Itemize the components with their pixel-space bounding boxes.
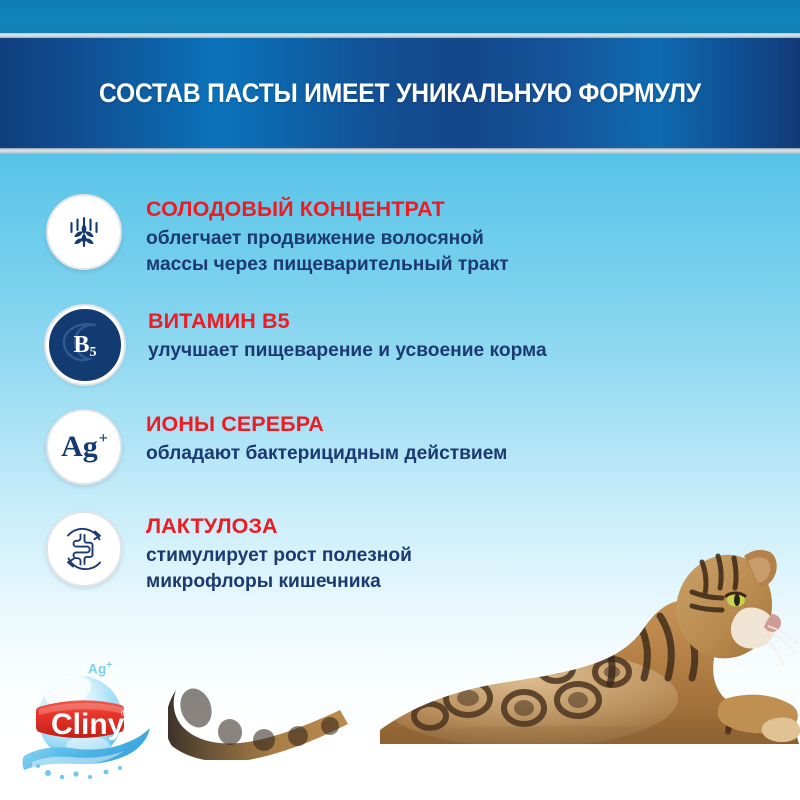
silver-ions-label: Ag+ <box>61 432 107 462</box>
silver-ions-icon: Ag+ <box>46 409 122 485</box>
feature-title-malt: СОЛОДОВЫЙ КОНЦЕНТРАТ <box>146 196 509 223</box>
intestine-icon <box>46 511 122 587</box>
vitamin-b5-label: B5 <box>73 333 96 357</box>
feature-text-malt: СОЛОДОВЫЙ КОНЦЕНТРАТ облегчает продвижен… <box>146 194 509 278</box>
cat-photo <box>168 548 800 800</box>
page-title: СОСТАВ ПАСТЫ ИМЕЕТ УНИКАЛЬНУЮ ФОРМУЛУ <box>28 33 772 154</box>
logo-ag-label: Ag+ <box>88 660 112 677</box>
cliny-logo: Cliny ® <box>18 658 168 786</box>
feature-title-vitamin-b5: ВИТАМИН B5 <box>148 308 547 335</box>
feature-title-lactulose: ЛАКТУЛОЗА <box>146 513 412 540</box>
vitamin-b5-icon: B5 <box>46 306 124 384</box>
feature-item-vitamin-b5: B5 ВИТАМИН B5 улучшает пищеварение и усв… <box>46 306 547 384</box>
feature-desc-silver-ions: обладают бактерицидным действием <box>146 441 507 467</box>
feature-item-malt: СОЛОДОВЫЙ КОНЦЕНТРАТ облегчает продвижен… <box>46 194 509 278</box>
trademark-symbol: ® <box>121 708 128 718</box>
top-color-strip <box>0 0 800 33</box>
wheat-icon <box>46 194 122 270</box>
cliny-wordmark: Cliny <box>51 708 125 741</box>
feature-desc-vitamin-b5: улучшает пищеварение и усвоение корма <box>148 338 547 364</box>
feature-text-silver-ions: ИОНЫ СЕРЕБРА обладают бактерицидным дейс… <box>146 409 507 467</box>
feature-title-silver-ions: ИОНЫ СЕРЕБРА <box>146 411 507 438</box>
promo-page: СОСТАВ ПАСТЫ ИМЕЕТ УНИКАЛЬНУЮ ФОРМУЛУ <box>0 0 800 800</box>
feature-desc-malt: облегчает продвижение волосяной массы че… <box>146 226 509 278</box>
feature-text-vitamin-b5: ВИТАМИН B5 улучшает пищеварение и усвоен… <box>148 306 547 364</box>
feature-item-silver-ions: Ag+ ИОНЫ СЕРЕБРА обладают бактерицидным … <box>46 409 507 485</box>
header-banner: СОСТАВ ПАСТЫ ИМЕЕТ УНИКАЛЬНУЮ ФОРМУЛУ <box>0 33 800 154</box>
